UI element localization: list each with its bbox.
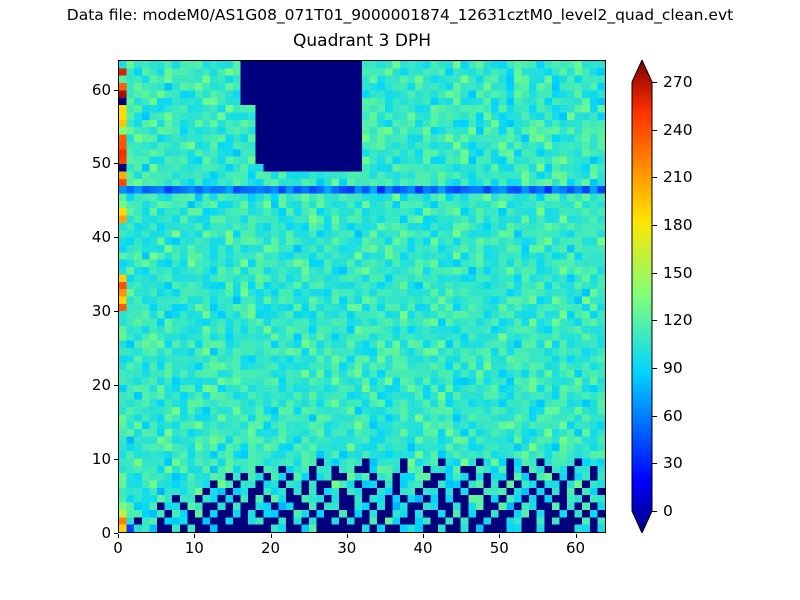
y-tick-mark <box>114 90 118 91</box>
x-tick-mark <box>499 534 500 538</box>
figure-suptitle: Data file: modeM0/AS1G08_071T01_90000018… <box>0 6 800 24</box>
colorbar-tick-label: 30 <box>663 454 683 472</box>
heatmap-plot-area[interactable] <box>118 60 606 533</box>
y-tick-mark <box>114 163 118 164</box>
x-tick-label: 60 <box>566 539 585 557</box>
y-tick-mark <box>114 311 118 312</box>
y-tick-mark <box>114 237 118 238</box>
colorbar-tick-mark <box>652 511 657 512</box>
colorbar-tick-mark <box>652 320 657 321</box>
colorbar-tick-mark <box>652 416 657 417</box>
y-tick-label: 20 <box>92 376 111 394</box>
colorbar-tick-mark <box>652 82 657 83</box>
colorbar-tick-mark <box>652 177 657 178</box>
x-tick-label: 40 <box>413 539 432 557</box>
colorbar-tick-mark <box>652 130 657 131</box>
x-tick-mark <box>118 534 119 538</box>
colorbar-tick-label: 270 <box>663 73 693 91</box>
colorbar[interactable]: 0306090120150180210240270 <box>622 60 722 533</box>
x-axis: 0102030405060 <box>118 534 606 564</box>
y-tick-label: 40 <box>92 228 111 246</box>
x-tick-mark <box>347 534 348 538</box>
y-tick-mark <box>114 533 118 534</box>
y-tick-label: 50 <box>92 154 111 172</box>
y-tick-label: 60 <box>92 81 111 99</box>
x-tick-mark <box>576 534 577 538</box>
axes-title: Quadrant 3 DPH <box>118 31 606 51</box>
y-axis: 0102030405060 <box>88 60 118 533</box>
x-tick-mark <box>423 534 424 538</box>
colorbar-tick-label: 90 <box>663 359 683 377</box>
x-tick-label: 30 <box>337 539 356 557</box>
y-tick-label: 30 <box>92 302 111 320</box>
colorbar-tick-mark <box>652 463 657 464</box>
colorbar-tick-label: 150 <box>663 264 693 282</box>
colorbar-tick-mark <box>652 273 657 274</box>
colorbar-tick-label: 120 <box>663 311 693 329</box>
colorbar-tick-label: 0 <box>663 502 673 520</box>
colorbar-tick-label: 210 <box>663 168 693 186</box>
y-tick-label: 0 <box>101 524 111 542</box>
x-tick-label: 50 <box>490 539 509 557</box>
x-tick-label: 20 <box>261 539 280 557</box>
x-tick-mark <box>271 534 272 538</box>
x-tick-label: 0 <box>113 539 123 557</box>
colorbar-tick-mark <box>652 368 657 369</box>
y-tick-mark <box>114 459 118 460</box>
colorbar-tick-label: 60 <box>663 407 683 425</box>
matplotlib-figure: Data file: modeM0/AS1G08_071T01_90000018… <box>0 0 800 600</box>
heatmap-image[interactable] <box>119 61 605 532</box>
colorbar-tick-mark <box>652 225 657 226</box>
colorbar-tick-label: 240 <box>663 121 693 139</box>
x-tick-mark <box>194 534 195 538</box>
colorbar-tick-label: 180 <box>663 216 693 234</box>
y-tick-label: 10 <box>92 450 111 468</box>
y-tick-mark <box>114 385 118 386</box>
x-tick-label: 10 <box>185 539 204 557</box>
